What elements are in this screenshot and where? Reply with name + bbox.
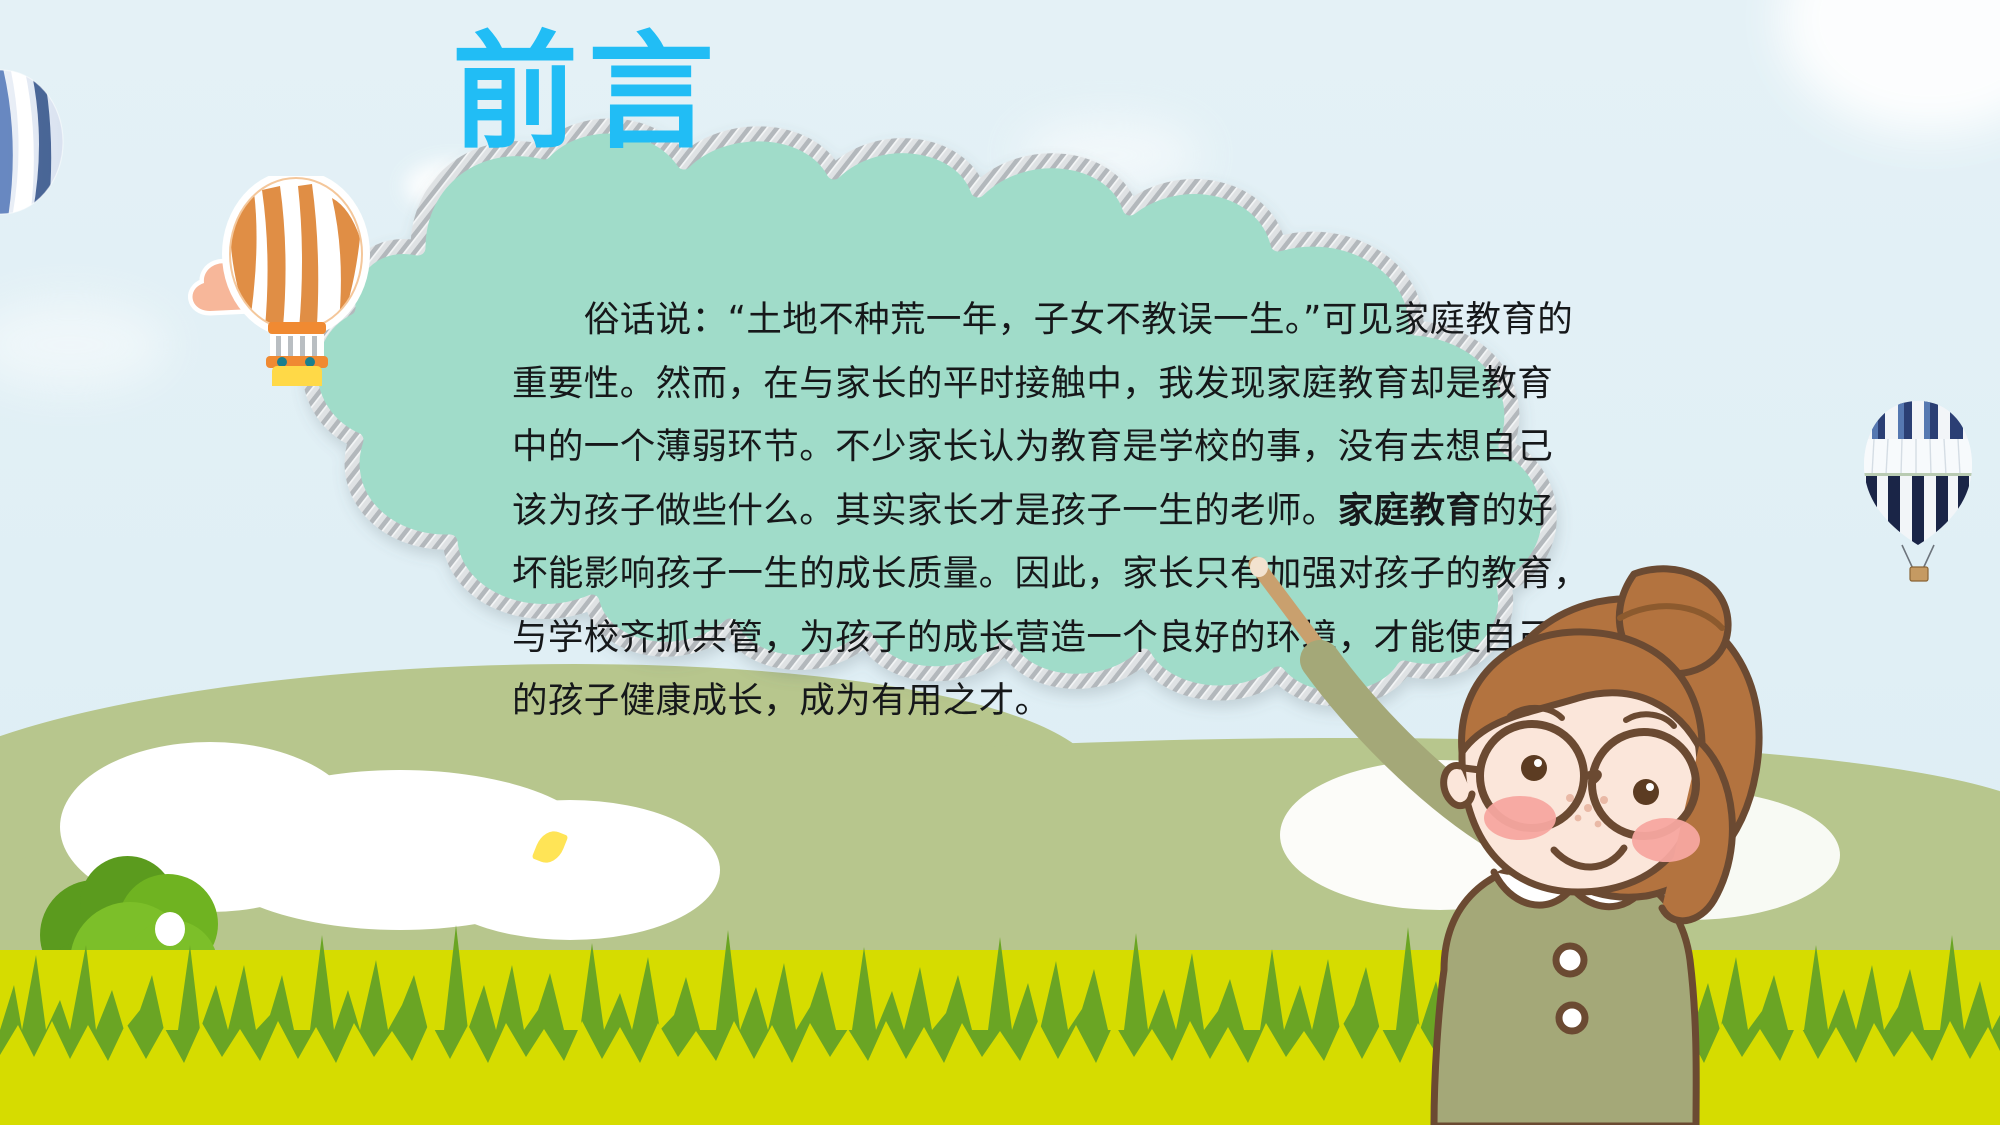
hot-air-balloon-left — [0, 60, 86, 250]
paragraph-line-1: 俗话说：“土地不种荒一年，子女不教误一生。”可见家庭教育的 — [512, 288, 1522, 352]
cartoon-hot-air-balloon — [196, 176, 396, 386]
teacher-character — [1248, 556, 1808, 1125]
paragraph-line-3: 中的一个薄弱环节。不少家长认为教育是学校的事，没有去想自己 — [512, 415, 1522, 479]
page-title: 前言 — [452, 30, 724, 156]
emphasis-term: 家庭教育 — [1338, 490, 1482, 531]
paragraph-line-2: 重要性。然而，在与家长的平时接触中，我发现家庭教育却是教育 — [512, 352, 1522, 416]
slide-canvas: 前言 俗话说：“土地不种荒一年，子女不教误一生。”可见家庭教育的 重要性。然而，… — [0, 0, 2000, 1125]
paragraph-line-4: 该为孩子做些什么。其实家长才是孩子一生的老师。家庭教育的好 — [512, 479, 1522, 543]
sky-cloud-top-right — [1780, 0, 2000, 134]
hot-air-balloon-right — [1858, 395, 1978, 595]
